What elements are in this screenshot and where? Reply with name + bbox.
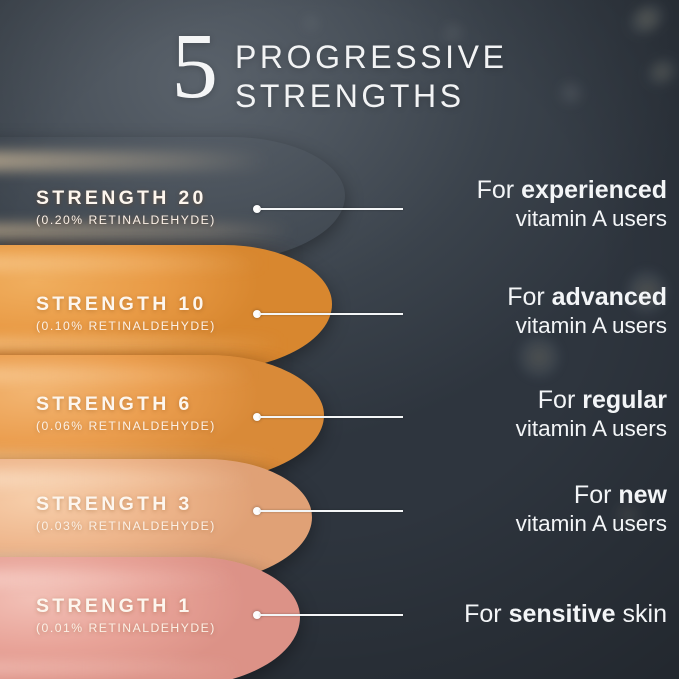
description-prefix: For (464, 600, 508, 628)
description-line-2: vitamin A users (516, 415, 667, 442)
description-line-2: vitamin A users (507, 312, 667, 339)
description-prefix: For (477, 176, 521, 204)
description-emphasis: new (618, 481, 667, 509)
description-line-2: vitamin A users (477, 205, 667, 232)
headline-number: 5 (171, 26, 217, 108)
page-title: 5 PROGRESSIVE STRENGTHS (0, 26, 679, 116)
description-strength-3: For new vitamin A users (516, 481, 667, 537)
swatch-stack (0, 137, 340, 679)
headline-words: PROGRESSIVE STRENGTHS (235, 38, 508, 116)
swatch-blob (0, 557, 300, 679)
description-prefix: For (507, 283, 551, 311)
swatch-strength-10 (0, 245, 332, 371)
description-prefix: For (574, 481, 618, 509)
headline-line-2: STRENGTHS (235, 77, 508, 116)
description-strength-20: For experienced vitamin A users (477, 176, 667, 232)
description-emphasis: advanced (552, 283, 667, 311)
description-prefix: For (538, 386, 582, 414)
description-strength-6: For regular vitamin A users (516, 386, 667, 442)
description-strength-10: For advanced vitamin A users (507, 283, 667, 339)
swatch-strength-1 (0, 557, 300, 679)
description-emphasis: regular (582, 386, 667, 414)
description-line-1: For regular (516, 386, 667, 415)
headline-line-1: PROGRESSIVE (235, 38, 508, 77)
description-line-1: For sensitive skin (464, 600, 667, 629)
description-emphasis: experienced (521, 176, 667, 204)
description-line-1: For advanced (507, 283, 667, 312)
infographic-canvas: 5 PROGRESSIVE STRENGTHS (0, 0, 679, 679)
swatch-blob (0, 245, 332, 371)
description-line-2: vitamin A users (516, 510, 667, 537)
description-line-1: For new (516, 481, 667, 510)
description-strength-1: For sensitive skin (464, 600, 667, 629)
description-line-1: For experienced (477, 176, 667, 205)
swatch-blob (0, 137, 345, 262)
description-emphasis: sensitive (509, 600, 616, 628)
description-suffix: skin (616, 600, 667, 628)
swatch-strength-20 (0, 137, 345, 262)
